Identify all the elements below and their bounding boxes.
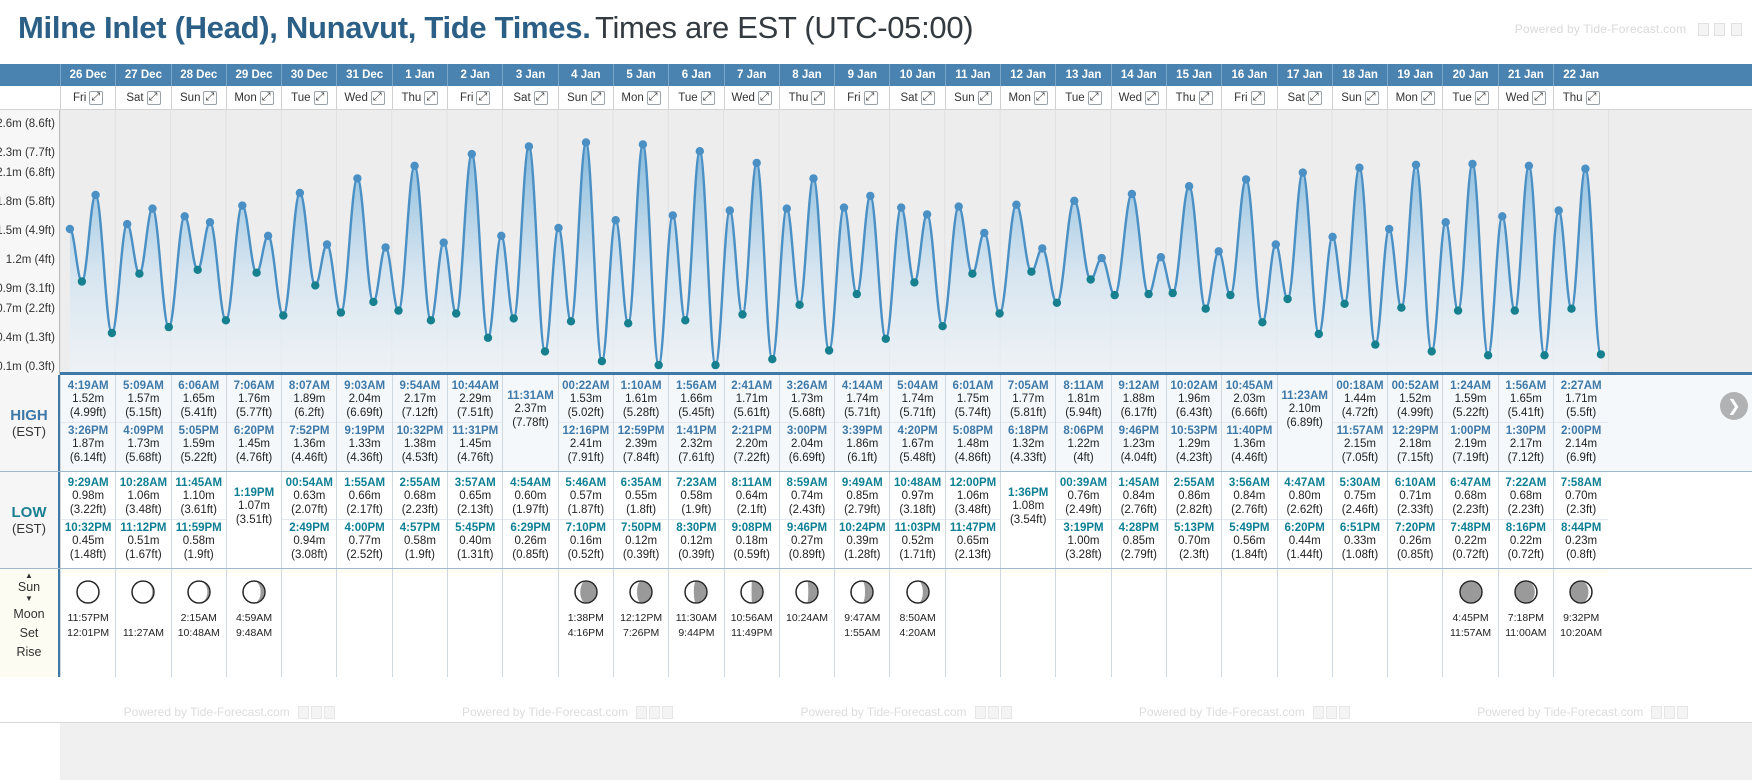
low-tide-height-m: 0.86m <box>1167 490 1221 503</box>
low-tide-marker[interactable] <box>1511 306 1519 314</box>
expand-icon[interactable] <box>476 91 490 105</box>
low-tide-height-m: 0.45m <box>61 535 115 548</box>
expand-icon[interactable] <box>921 91 935 105</box>
high-tide-height-m: 1.22m <box>1056 438 1110 451</box>
expand-icon[interactable] <box>89 91 103 105</box>
watermark-text: Powered by Tide-Forecast.com <box>1139 705 1305 719</box>
expand-icon[interactable] <box>1421 91 1435 105</box>
low-tide-marker[interactable] <box>427 316 435 324</box>
expand-icon[interactable] <box>314 91 328 105</box>
low-tide-marker[interactable] <box>938 322 946 330</box>
high-tide-cell-22: 10:45AM2.03m(6.66ft)11:40PM1.36m(4.46ft) <box>1221 375 1276 471</box>
date-header-26[interactable]: 20 Jan <box>1442 64 1497 86</box>
date-header-3[interactable]: 28 Dec <box>171 64 226 86</box>
low-tide-cell-26: 6:47AM0.68m(2.23ft)7:48PM0.22m(0.72ft) <box>1442 472 1497 568</box>
high-tide-time: 10:44AM <box>448 380 502 393</box>
high-tide-marker[interactable] <box>696 147 704 155</box>
date-header-5[interactable]: 30 Dec <box>281 64 336 86</box>
moon-cell-13: 10:56AM11:49PM <box>724 569 779 677</box>
high-tide-event: 12:59PM2.39m(7.84ft) <box>614 422 668 467</box>
high-tide-time: 11:40PM <box>1222 425 1276 438</box>
high-tide-marker[interactable] <box>1012 201 1020 209</box>
high-tide-time: 8:06PM <box>1056 425 1110 438</box>
low-tide-cell-9: 4:54AM0.60m(1.97ft)6:29PM0.26m(0.85ft) <box>502 472 557 568</box>
map-icon <box>324 706 335 719</box>
weekday-cell-18: Mon <box>1000 86 1055 109</box>
high-tide-marker[interactable] <box>1385 225 1393 233</box>
moon-rise-time: 1:55AM <box>835 626 889 641</box>
date-header-6[interactable]: 31 Dec <box>336 64 391 86</box>
date-header-17[interactable]: 11 Jan <box>945 64 1000 86</box>
expand-icon[interactable] <box>701 91 715 105</box>
date-header-14[interactable]: 8 Jan <box>779 64 834 86</box>
date-header-27[interactable]: 21 Jan <box>1498 64 1553 86</box>
high-tide-marker[interactable] <box>1070 197 1078 205</box>
low-tide-time: 9:29AM <box>61 477 115 490</box>
low-tide-height-ft: (0.39ft) <box>614 549 668 562</box>
high-tide-marker[interactable] <box>1242 175 1250 183</box>
date-header-12[interactable]: 6 Jan <box>668 64 723 86</box>
low-tide-marker[interactable] <box>279 311 287 319</box>
high-tide-marker[interactable] <box>669 211 677 219</box>
date-header-9[interactable]: 3 Jan <box>502 64 557 86</box>
low-tide-marker[interactable] <box>968 270 976 278</box>
high-tide-time: 2:00PM <box>1554 425 1608 438</box>
scroll-right-button[interactable]: ❯ <box>1720 392 1748 420</box>
low-tide-marker[interactable] <box>882 335 890 343</box>
low-tide-height-ft: (2.23ft) <box>393 504 447 517</box>
low-tide-marker[interactable] <box>1484 351 1492 359</box>
watermark-icons <box>634 705 673 719</box>
low-tide-marker[interactable] <box>337 308 345 316</box>
expand-icon[interactable] <box>591 91 605 105</box>
low-tide-height-m: 0.58m <box>393 535 447 548</box>
low-tide-event: 2:49PM0.94m(3.08ft) <box>282 519 336 564</box>
low-label-text: LOW <box>12 504 47 521</box>
moon-set-time: 11:57PM <box>61 611 115 626</box>
date-header-16[interactable]: 10 Jan <box>889 64 944 86</box>
moon-cell-22 <box>1221 569 1276 677</box>
low-tide-marker[interactable] <box>1540 351 1548 359</box>
high-tide-time: 9:03AM <box>337 380 391 393</box>
high-tide-marker[interactable] <box>440 238 448 246</box>
high-tide-marker[interactable] <box>238 201 246 209</box>
moon-rise-time: 11:00AM <box>1499 626 1553 641</box>
expand-icon[interactable] <box>758 91 772 105</box>
high-tide-marker[interactable] <box>582 138 590 146</box>
expand-icon[interactable] <box>1308 91 1322 105</box>
moon-phase-empty <box>1333 579 1387 611</box>
weekday-cell-14: Thu <box>779 86 834 109</box>
low-label-tz: (EST) <box>12 521 46 536</box>
low-tide-height-ft: (1.9ft) <box>172 549 226 562</box>
high-tide-height-m: 1.71m <box>1554 393 1608 406</box>
high-tide-marker[interactable] <box>468 150 476 158</box>
low-tide-event: 5:30AM0.75m(2.46ft) <box>1333 475 1387 519</box>
high-tide-height-ft: (4.36ft) <box>337 452 391 465</box>
weekday-text: Fri <box>460 92 473 104</box>
high-tide-height-ft: (5.71ft) <box>890 407 944 420</box>
set-label-text: Set <box>20 626 39 640</box>
date-header-10[interactable]: 4 Jan <box>558 64 613 86</box>
high-tide-time: 10:02AM <box>1167 380 1221 393</box>
high-tide-height-ft: (4.86ft) <box>946 452 1000 465</box>
low-tide-event: 7:20PM0.26m(0.85ft) <box>1388 519 1442 564</box>
high-tide-marker[interactable] <box>840 203 848 211</box>
low-tide-height-m: 0.71m <box>1388 490 1442 503</box>
date-header-18[interactable]: 12 Jan <box>1000 64 1055 86</box>
high-tide-height-ft: (6.1ft) <box>835 452 889 465</box>
low-tide-time: 2:55AM <box>1167 477 1221 490</box>
low-tide-marker[interactable] <box>1597 350 1605 358</box>
low-tide-time: 4:28PM <box>1112 522 1166 535</box>
tide-forecast-page: Milne Inlet (Head), Nunavut, Tide Times.… <box>0 0 1752 780</box>
high-tide-time: 4:09PM <box>116 425 170 438</box>
low-tide-height-m: 0.12m <box>614 535 668 548</box>
low-tide-marker[interactable] <box>825 346 833 354</box>
date-header-4[interactable]: 29 Dec <box>226 64 281 86</box>
moon-set-time: 7:18PM <box>1499 611 1553 626</box>
low-tide-marker[interactable] <box>1340 300 1348 308</box>
high-tide-time: 7:05AM <box>1001 380 1055 393</box>
weekday-text: Thu <box>402 92 422 104</box>
high-tide-marker[interactable] <box>148 204 156 212</box>
expand-icon[interactable] <box>371 91 385 105</box>
high-tide-cells: 4:19AM1.52m(4.99ft)3:26PM1.87m(6.14ft)5:… <box>60 375 1752 471</box>
high-tide-event: 4:09PM1.73m(5.68ft) <box>116 422 170 467</box>
page-subtitle: Times are EST (UTC-05:00) <box>595 10 973 45</box>
chart-icon <box>1313 706 1324 719</box>
low-tide-marker[interactable] <box>1315 330 1323 338</box>
low-tide-marker[interactable] <box>995 309 1003 317</box>
high-tide-time: 11:31AM <box>503 390 557 403</box>
high-tide-time: 3:00PM <box>780 425 834 438</box>
date-header-20[interactable]: 14 Jan <box>1111 64 1166 86</box>
low-tide-marker[interactable] <box>510 314 518 322</box>
moon-set-time <box>1167 617 1221 632</box>
moon-phase-empty <box>1001 579 1055 611</box>
weekday-cell-3: Sun <box>171 86 226 109</box>
high-tide-marker[interactable] <box>753 159 761 167</box>
high-tide-marker[interactable] <box>809 174 817 182</box>
moon-cell-10: 1:38PM4:16PM <box>558 569 613 677</box>
low-tide-cell-22: 3:56AM0.84m(2.76ft)5:49PM0.56m(1.84ft) <box>1221 472 1276 568</box>
high-tide-height-ft: (5.94ft) <box>1056 407 1110 420</box>
high-tide-marker[interactable] <box>525 142 533 150</box>
high-tide-marker[interactable] <box>923 210 931 218</box>
high-tide-marker[interactable] <box>123 220 131 228</box>
low-tide-marker[interactable] <box>222 316 230 324</box>
low-tide-marker[interactable] <box>311 281 319 289</box>
weekday-text: Sat <box>513 92 530 104</box>
high-tide-height-ft: (4ft) <box>1056 452 1110 465</box>
low-tide-cell-21: 2:55AM0.86m(2.82ft)5:13PM0.70m(2.3ft) <box>1166 472 1221 568</box>
low-tide-height-ft: (3.54ft) <box>1001 514 1055 527</box>
high-tide-time: 8:11AM <box>1056 380 1110 393</box>
expand-icon[interactable] <box>1088 91 1102 105</box>
high-tide-time: 6:20PM <box>227 425 281 438</box>
low-tide-height-ft: (1.67ft) <box>116 549 170 562</box>
date-header-19[interactable]: 13 Jan <box>1055 64 1110 86</box>
high-tide-marker[interactable] <box>726 206 734 214</box>
low-tide-event: 9:29AM0.98m(3.22ft) <box>61 475 115 519</box>
high-tide-marker[interactable] <box>1185 182 1193 190</box>
low-tide-marker[interactable] <box>1283 295 1291 303</box>
high-tide-marker[interactable] <box>264 232 272 240</box>
moon-rise-time: 4:20AM <box>890 626 944 641</box>
low-tide-marker[interactable] <box>369 298 377 306</box>
high-tide-marker[interactable] <box>1299 168 1307 176</box>
moon-cell-11: 12:12PM7:26PM <box>613 569 668 677</box>
low-tide-marker[interactable] <box>1169 289 1177 297</box>
low-tide-marker[interactable] <box>655 361 663 369</box>
high-tide-event: 4:14AM1.74m(5.71ft) <box>835 378 889 422</box>
high-tide-marker[interactable] <box>1215 247 1223 255</box>
high-tide-marker[interactable] <box>1038 244 1046 252</box>
low-tide-height-m: 0.58m <box>669 490 723 503</box>
high-tide-time: 9:54AM <box>393 380 447 393</box>
high-tide-cell-13: 2:41AM1.71m(5.61ft)2:21PM2.20m(7.22ft) <box>724 375 779 471</box>
low-tide-marker[interactable] <box>567 317 575 325</box>
expand-icon[interactable] <box>1365 91 1379 105</box>
low-tide-marker[interactable] <box>252 269 260 277</box>
expand-icon[interactable] <box>1145 91 1159 105</box>
expand-icon[interactable] <box>203 91 217 105</box>
low-tide-event: 00:39AM0.76m(2.49ft) <box>1056 475 1110 519</box>
high-tide-marker[interactable] <box>1098 254 1106 262</box>
high-tide-marker[interactable] <box>866 192 874 200</box>
high-tide-marker[interactable] <box>381 243 389 251</box>
high-tide-time: 1:56AM <box>669 380 723 393</box>
low-tide-time: 6:20PM <box>1278 522 1332 535</box>
low-tide-row: LOW (EST) 9:29AM0.98m(3.22ft)10:32PM0.45… <box>0 472 1752 569</box>
high-tide-height-ft: (4.76ft) <box>227 452 281 465</box>
high-tide-marker[interactable] <box>91 191 99 199</box>
low-tide-marker[interactable] <box>853 290 861 298</box>
high-tide-marker[interactable] <box>612 216 620 224</box>
low-tide-marker[interactable] <box>541 347 549 355</box>
low-tide-height-ft: (1.84ft) <box>1222 549 1276 562</box>
high-tide-marker[interactable] <box>1128 190 1136 198</box>
weekday-row: FriSatSunMonTueWedThuFriSatSunMonTueWedT… <box>0 86 1752 110</box>
low-tide-marker[interactable] <box>1567 305 1575 313</box>
expand-icon[interactable] <box>864 91 878 105</box>
moon-cell-28: 9:32PM10:20AM <box>1553 569 1608 677</box>
low-tide-marker[interactable] <box>394 306 402 314</box>
date-header-8[interactable]: 2 Jan <box>447 64 502 86</box>
high-tide-height-ft: (7.19ft) <box>1443 452 1497 465</box>
moon-set-time: 10:24AM <box>780 611 834 626</box>
date-header-28[interactable]: 22 Jan <box>1553 64 1608 86</box>
high-tide-height-m: 1.33m <box>337 438 391 451</box>
date-header-2[interactable]: 27 Dec <box>115 64 170 86</box>
low-tide-marker[interactable] <box>1454 306 1462 314</box>
low-tide-marker[interactable] <box>484 334 492 342</box>
expand-icon[interactable] <box>978 91 992 105</box>
weekday-cells: FriSatSunMonTueWedThuFriSatSunMonTueWedT… <box>60 86 1752 109</box>
high-tide-height-m: 1.86m <box>835 438 889 451</box>
date-header-21[interactable]: 15 Jan <box>1166 64 1221 86</box>
weekday-cell-4: Mon <box>226 86 281 109</box>
weekday-cell-24: Sun <box>1332 86 1387 109</box>
low-tide-marker[interactable] <box>1053 299 1061 307</box>
high-tide-event: 8:07AM1.89m(6.2ft) <box>282 378 336 422</box>
high-tide-marker[interactable] <box>1581 165 1589 173</box>
date-header-25[interactable]: 19 Jan <box>1387 64 1442 86</box>
low-tide-cells: 9:29AM0.98m(3.22ft)10:32PM0.45m(1.48ft)1… <box>60 472 1752 568</box>
high-tide-marker[interactable] <box>1328 233 1336 241</box>
low-tide-marker[interactable] <box>1087 275 1095 283</box>
high-tide-event: 9:03AM2.04m(6.69ft) <box>337 378 391 422</box>
high-tide-event: 2:21PM2.20m(7.22ft) <box>725 422 779 467</box>
high-tide-height-m: 1.89m <box>282 393 336 406</box>
high-tide-marker[interactable] <box>181 212 189 220</box>
high-tide-height-m: 1.44m <box>1333 393 1387 406</box>
high-tide-time: 3:39PM <box>835 425 889 438</box>
low-tide-height-m: 0.26m <box>503 535 557 548</box>
high-tide-cell-19: 8:11AM1.81m(5.94ft)8:06PM1.22m(4ft) <box>1055 375 1110 471</box>
low-tide-marker[interactable] <box>1397 304 1405 312</box>
high-tide-marker[interactable] <box>410 162 418 170</box>
low-tide-marker[interactable] <box>598 357 606 365</box>
low-tide-height-m: 1.10m <box>172 490 226 503</box>
expand-icon[interactable] <box>1199 91 1213 105</box>
weekday-cell-1: Fri <box>60 86 115 109</box>
low-tide-height-m: 0.22m <box>1499 535 1553 548</box>
high-tide-height-ft: (4.33ft) <box>1001 452 1055 465</box>
low-tide-marker[interactable] <box>711 361 719 369</box>
expand-icon[interactable] <box>1586 91 1600 105</box>
y-axis-tick-3: 2.1m (6.8ft) <box>0 167 55 179</box>
high-tide-marker[interactable] <box>206 218 214 226</box>
low-tide-marker[interactable] <box>910 278 918 286</box>
high-tide-marker[interactable] <box>639 140 647 148</box>
low-tide-time: 11:47PM <box>946 522 1000 535</box>
low-tide-marker[interactable] <box>78 277 86 285</box>
high-tide-marker[interactable] <box>497 232 505 240</box>
low-tide-marker[interactable] <box>738 310 746 318</box>
date-header-24[interactable]: 18 Jan <box>1332 64 1387 86</box>
low-tide-height-m: 1.08m <box>1001 500 1055 513</box>
watermark-text: Powered by Tide-Forecast.com <box>462 705 628 719</box>
expand-icon[interactable] <box>1475 91 1489 105</box>
low-tide-height-ft: (0.52ft) <box>559 549 613 562</box>
expand-icon[interactable] <box>811 91 825 105</box>
low-tide-marker[interactable] <box>768 355 776 363</box>
weekday-cell-8: Fri <box>447 86 502 109</box>
weekday-text: Wed <box>1506 92 1529 104</box>
high-tide-marker[interactable] <box>353 174 361 182</box>
low-tide-height-m: 1.06m <box>946 490 1000 503</box>
high-tide-marker[interactable] <box>554 224 562 232</box>
expand-icon[interactable] <box>1034 91 1048 105</box>
high-tide-marker[interactable] <box>897 203 905 211</box>
low-tide-marker[interactable] <box>165 323 173 331</box>
high-tide-cell-3: 6:06AM1.65m(5.41ft)5:05PM1.59m(5.22ft) <box>171 375 226 471</box>
low-tide-marker[interactable] <box>135 270 143 278</box>
low-tide-marker[interactable] <box>1111 291 1119 299</box>
low-tide-height-ft: (0.59ft) <box>725 549 779 562</box>
moon-rise-time <box>1333 632 1387 647</box>
expand-icon[interactable] <box>147 91 161 105</box>
low-tide-marker[interactable] <box>1202 305 1210 313</box>
low-tide-marker[interactable] <box>681 316 689 324</box>
low-tide-marker[interactable] <box>1027 268 1035 276</box>
low-tide-height-m: 0.51m <box>116 535 170 548</box>
date-header-11[interactable]: 5 Jan <box>613 64 668 86</box>
high-tide-marker[interactable] <box>980 229 988 237</box>
chart-plot-area[interactable] <box>60 110 1752 375</box>
low-tide-marker[interactable] <box>1428 347 1436 355</box>
high-tide-marker[interactable] <box>1498 212 1506 220</box>
high-tide-marker[interactable] <box>1555 206 1563 214</box>
low-tide-marker[interactable] <box>108 329 116 337</box>
y-axis-tick-8: 0.7m (2.2ft) <box>0 303 55 315</box>
moon-rise-time: 11:27AM <box>116 626 170 641</box>
low-tide-marker[interactable] <box>1226 291 1234 299</box>
low-tide-time: 8:44PM <box>1554 522 1608 535</box>
moon-cell-14: 10:24AM <box>779 569 834 677</box>
high-tide-height-ft: (4.04ft) <box>1112 452 1166 465</box>
high-tide-event: 4:20PM1.67m(5.48ft) <box>890 422 944 467</box>
moon-rise-time <box>282 632 336 647</box>
moon-set-time <box>946 617 1000 632</box>
low-tide-marker[interactable] <box>452 309 460 317</box>
expand-icon[interactable] <box>260 91 274 105</box>
high-tide-marker[interactable] <box>1412 161 1420 169</box>
low-tide-height-ft: (3.18ft) <box>890 504 944 517</box>
moon-shadow <box>751 581 762 603</box>
high-tide-marker[interactable] <box>1272 240 1280 248</box>
date-header-23[interactable]: 17 Jan <box>1277 64 1332 86</box>
date-header-22[interactable]: 16 Jan <box>1221 64 1276 86</box>
high-tide-marker[interactable] <box>1355 164 1363 172</box>
low-tide-event: 5:13PM0.70m(2.3ft) <box>1167 519 1221 564</box>
low-tide-marker[interactable] <box>194 266 202 274</box>
high-tide-marker[interactable] <box>66 225 74 233</box>
date-header-15[interactable]: 9 Jan <box>834 64 889 86</box>
date-header-1[interactable]: 26 Dec <box>60 64 115 86</box>
low-tide-marker[interactable] <box>1258 318 1266 326</box>
high-tide-marker[interactable] <box>323 240 331 248</box>
map-icon <box>1731 23 1742 36</box>
expand-icon[interactable] <box>1532 91 1546 105</box>
expand-icon[interactable] <box>424 91 438 105</box>
date-header-13[interactable]: 7 Jan <box>724 64 779 86</box>
low-tide-marker[interactable] <box>1144 290 1152 298</box>
high-tide-marker[interactable] <box>1468 160 1476 168</box>
expand-icon[interactable] <box>534 91 548 105</box>
expand-icon[interactable] <box>1251 91 1265 105</box>
low-tide-marker[interactable] <box>1371 340 1379 348</box>
high-tide-marker[interactable] <box>1157 253 1165 261</box>
graph-icon <box>649 706 660 719</box>
low-tide-event: 5:49PM0.56m(1.84ft) <box>1222 519 1276 564</box>
high-tide-marker[interactable] <box>783 204 791 212</box>
low-tide-marker[interactable] <box>624 319 632 327</box>
moon-set-time <box>1333 617 1387 632</box>
expand-icon[interactable] <box>647 91 661 105</box>
low-tide-marker[interactable] <box>795 301 803 309</box>
low-tide-cell-4: 1:19PM1.07m(3.51ft) <box>226 472 281 568</box>
low-tide-time: 5:45PM <box>448 522 502 535</box>
high-tide-marker[interactable] <box>1442 218 1450 226</box>
high-tide-marker[interactable] <box>1525 162 1533 170</box>
low-tide-event: 6:47AM0.68m(2.23ft) <box>1443 475 1497 519</box>
date-header-7[interactable]: 1 Jan <box>392 64 447 86</box>
high-tide-marker[interactable] <box>296 189 304 197</box>
high-tide-marker[interactable] <box>955 202 963 210</box>
